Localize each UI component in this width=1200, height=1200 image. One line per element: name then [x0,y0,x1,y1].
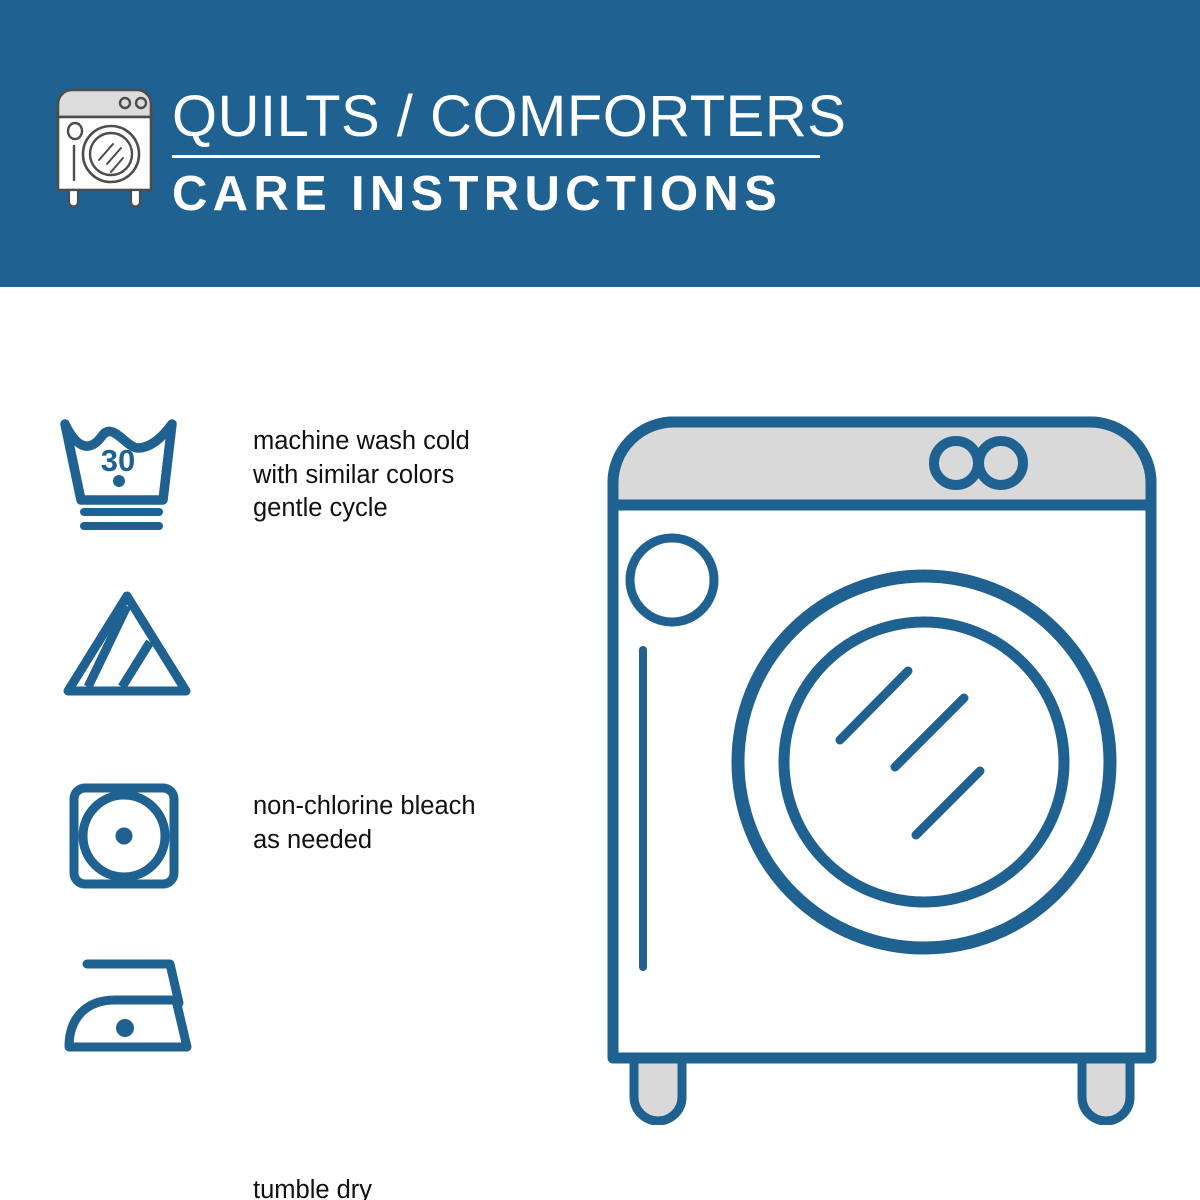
wash-temperature-value: 30 [101,443,135,478]
care-list-item-label: machine wash cold with similar colors ge… [253,425,470,526]
care-list-item-label: non-chlorine bleach as needed [253,790,476,857]
care-symbol-list: 30 machine wash cold with similar colors… [0,0,560,1200]
iron-low-heat-icon [63,955,198,1060]
non-chlorine-bleach-triangle-icon [62,590,192,703]
care-instructions-page: QUILTS / COMFORTERS CARE INSTRUCTIONS 30 [0,0,1200,1200]
tumble-dry-low-heat-icon [68,782,180,895]
care-list-item-label: tumble dry low heat [253,1174,372,1200]
machine-body [613,422,1151,1058]
wash-basin-30-gentle-icon: 30 [58,418,193,538]
washing-machine-illustration [596,405,1166,1125]
